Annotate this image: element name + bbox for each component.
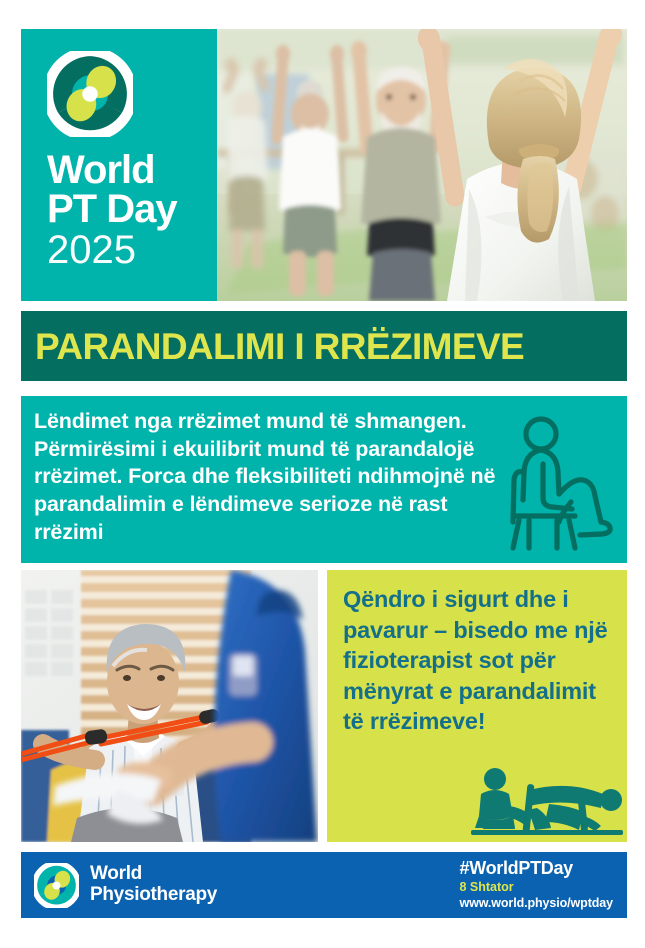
poster-canvas: World PT Day 2025 — [0, 0, 645, 948]
header-row: World PT Day 2025 — [21, 29, 627, 301]
org-line-2: Physiotherapy — [90, 885, 217, 906]
page-title: PARANDALIMI I RRËZIMEVE — [35, 328, 524, 365]
org-line-1: World — [90, 864, 217, 885]
therapist-with-patient-resistance-band-photo — [21, 570, 318, 842]
seniors-group-exercise-photo — [217, 29, 627, 301]
world-physiotherapy-logo: World Physiotherapy — [34, 863, 217, 908]
world-physiotherapy-name: World Physiotherapy — [90, 864, 217, 905]
wptd-line-2: PT Day — [47, 190, 217, 229]
world-physiotherapy-circle-logo-icon — [34, 863, 79, 908]
therapist-assisting-plank-exercise-icon — [459, 764, 627, 842]
world-pt-day-logo-block: World PT Day 2025 — [21, 29, 217, 301]
cta-panel: Qëndro i sigurt dhe i pavarur – bisedo m… — [327, 570, 627, 842]
world-pt-day-circle-logo-icon — [47, 51, 133, 137]
info-panel: Lëndimet nga rrëzimet mund të shmangen. … — [21, 396, 627, 563]
world-pt-day-title: World PT Day — [47, 151, 217, 229]
campaign-url[interactable]: www.world.physio/wptday — [460, 895, 614, 911]
wptd-line-1: World — [47, 151, 217, 190]
footer-campaign-info: #WorldPTDay 8 Shtator www.world.physio/w… — [460, 858, 614, 911]
footer-bar: World Physiotherapy #WorldPTDay 8 Shtato… — [21, 852, 627, 918]
wptd-year: 2025 — [47, 229, 217, 271]
cta-body-text: Qëndro i sigurt dhe i pavarur – bisedo m… — [343, 584, 617, 737]
campaign-date: 8 Shtator — [460, 879, 614, 895]
person-seated-on-chair-icon — [495, 412, 613, 552]
headline-banner: PARANDALIMI I RRËZIMEVE — [21, 311, 627, 381]
bottom-row: Qëndro i sigurt dhe i pavarur – bisedo m… — [21, 570, 627, 842]
campaign-hashtag: #WorldPTDay — [460, 858, 614, 879]
info-body-text: Lëndimet nga rrëzimet mund të shmangen. … — [34, 408, 504, 547]
